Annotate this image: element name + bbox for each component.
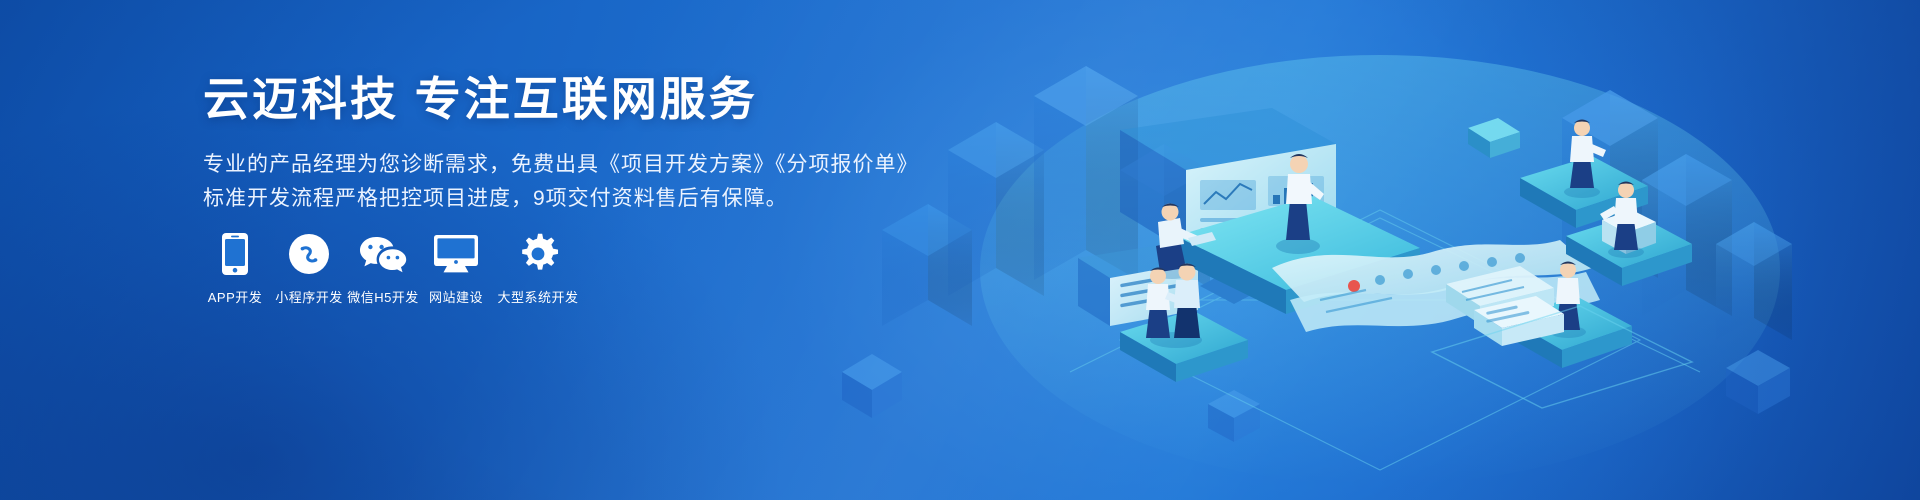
service-item-app[interactable]: APP开发 — [198, 232, 272, 306]
wechat-icon — [359, 232, 407, 276]
hero-subtitle: 专业的产品经理为您诊断需求，免费出具《项目开发方案》《分项报价单》 标准开发流程… — [203, 148, 923, 216]
service-list: APP开发 小程序开发 — [198, 232, 584, 306]
mini-program-icon — [289, 232, 329, 276]
service-item-miniprogram[interactable]: 小程序开发 — [272, 232, 346, 306]
hero-banner: 云迈科技 专注互联网服务 专业的产品经理为您诊断需求，免费出具《项目开发方案》《… — [0, 0, 1920, 500]
hero-illustration — [820, 0, 1920, 500]
page-title: 云迈科技 专注互联网服务 — [203, 72, 923, 126]
service-label-wechat: 微信H5开发 — [347, 290, 419, 306]
service-label-app: APP开发 — [208, 290, 263, 306]
service-label-website: 网站建设 — [429, 290, 483, 306]
service-item-system[interactable]: 大型系统开发 — [492, 232, 584, 306]
mobile-phone-icon — [222, 232, 248, 276]
service-item-website[interactable]: 网站建设 — [420, 232, 492, 306]
gear-icon — [517, 232, 559, 276]
service-label-system: 大型系统开发 — [497, 290, 578, 306]
monitor-icon — [434, 232, 478, 276]
subtitle-line-2: 标准开发流程严格把控项目进度，9项交付资料售后有保障。 — [203, 182, 923, 216]
service-item-wechat[interactable]: 微信H5开发 — [346, 232, 420, 306]
subtitle-line-1: 专业的产品经理为您诊断需求，免费出具《项目开发方案》《分项报价单》 — [203, 148, 923, 182]
service-label-miniprogram: 小程序开发 — [275, 290, 343, 306]
hero-copy: 云迈科技 专注互联网服务 专业的产品经理为您诊断需求，免费出具《项目开发方案》《… — [203, 72, 923, 216]
